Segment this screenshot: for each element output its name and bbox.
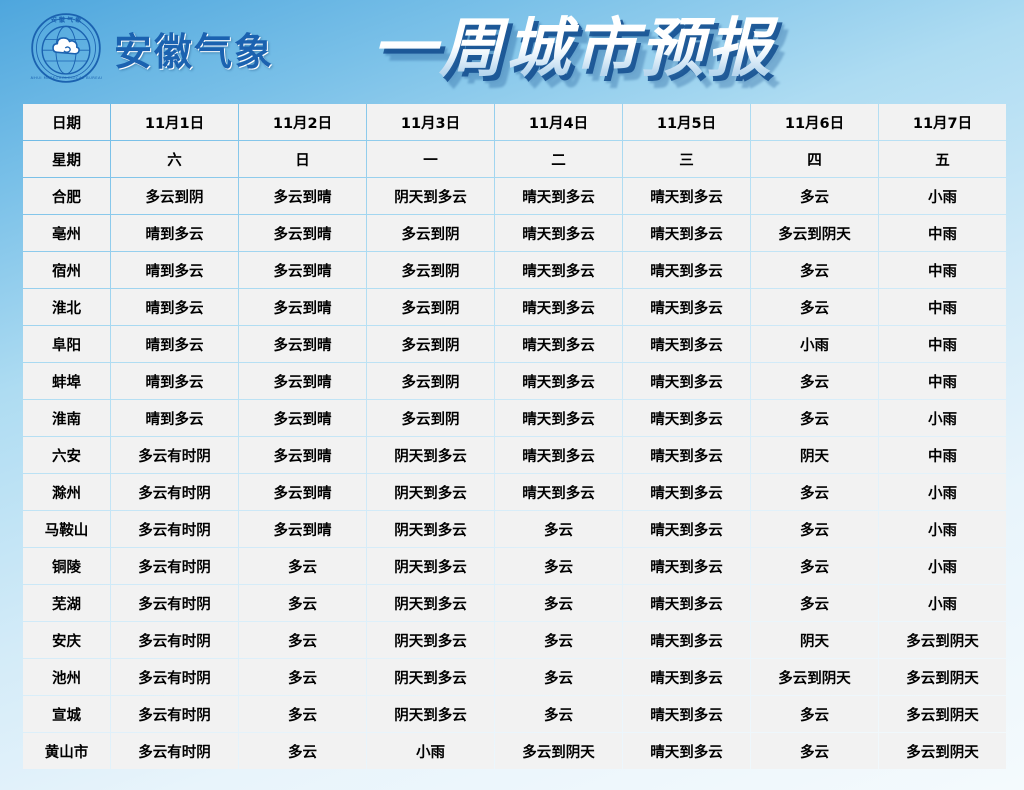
column-header-date-2: 11月2日 [239,104,366,140]
forecast-cell: 多云有时阴 [111,659,238,695]
city-name-cell: 池州 [23,659,110,695]
forecast-cell: 多云 [239,548,366,584]
city-name-cell: 阜阳 [23,326,110,362]
weekday-row: 星期六日一二三四五 [23,141,1006,177]
forecast-cell: 阴天到多云 [367,696,494,732]
weekday-cell-5: 三 [623,141,750,177]
forecast-cell: 小雨 [879,585,1006,621]
forecast-cell: 多云有时阴 [111,696,238,732]
forecast-cell: 多云到阴 [367,363,494,399]
forecast-cell: 多云到阴 [367,215,494,251]
forecast-cell: 晴天到多云 [623,474,750,510]
city-name-cell: 蚌埠 [23,363,110,399]
forecast-cell: 晴到多云 [111,400,238,436]
forecast-cell: 多云到晴 [239,363,366,399]
forecast-cell: 晴天到多云 [623,622,750,658]
forecast-cell: 多云 [239,659,366,695]
forecast-cell: 晴天到多云 [495,178,622,214]
forecast-cell: 晴天到多云 [495,326,622,362]
forecast-cell: 阴天到多云 [367,548,494,584]
forecast-cell: 晴天到多云 [495,437,622,473]
forecast-cell: 晴天到多云 [495,289,622,325]
forecast-cell: 多云到阴天 [751,215,878,251]
forecast-cell: 晴天到多云 [623,363,750,399]
city-name-cell: 黄山市 [23,733,110,769]
forecast-cell: 多云到晴 [239,326,366,362]
table-row: 亳州晴到多云多云到晴多云到阴晴天到多云晴天到多云多云到阴天中雨 [23,215,1006,251]
forecast-cell: 晴天到多云 [623,215,750,251]
forecast-cell: 多云到晴 [239,252,366,288]
forecast-cell: 多云 [239,622,366,658]
weekday-row-label: 星期 [23,141,110,177]
forecast-cell: 多云 [239,733,366,769]
table-row: 池州多云有时阴多云阴天到多云多云晴天到多云多云到阴天多云到阴天 [23,659,1006,695]
forecast-cell: 阴天 [751,437,878,473]
page-banner: 安 徽 气 象 ANHUI METEOROLOGICAL BUREAU 安徽气象… [0,0,1024,98]
date-header-row: 日期11月1日11月2日11月3日11月4日11月5日11月6日11月7日 [23,104,1006,140]
forecast-cell: 晴天到多云 [623,733,750,769]
forecast-cell: 晴天到多云 [623,400,750,436]
forecast-cell: 阴天到多云 [367,178,494,214]
column-header-date-6: 11月6日 [751,104,878,140]
forecast-cell: 多云 [751,289,878,325]
forecast-cell: 多云到晴 [239,289,366,325]
weekday-cell-6: 四 [751,141,878,177]
forecast-cell: 晴天到多云 [623,659,750,695]
city-name-cell: 六安 [23,437,110,473]
forecast-cell: 多云 [495,548,622,584]
svg-text:ANHUI METEOROLOGICAL BUREAU: ANHUI METEOROLOGICAL BUREAU [30,76,102,80]
city-name-cell: 宿州 [23,252,110,288]
forecast-cell: 晴到多云 [111,289,238,325]
city-name-cell: 宣城 [23,696,110,732]
table-row: 安庆多云有时阴多云阴天到多云多云晴天到多云阴天多云到阴天 [23,622,1006,658]
table-row: 马鞍山多云有时阴多云到晴阴天到多云多云晴天到多云多云小雨 [23,511,1006,547]
forecast-cell: 阴天到多云 [367,585,494,621]
city-name-cell: 铜陵 [23,548,110,584]
city-name-cell: 安庆 [23,622,110,658]
forecast-cell: 小雨 [879,474,1006,510]
city-name-cell: 马鞍山 [23,511,110,547]
city-name-cell: 滁州 [23,474,110,510]
forecast-cell: 多云有时阴 [111,474,238,510]
forecast-cell: 多云 [239,696,366,732]
forecast-cell: 多云 [495,511,622,547]
page-title: 一周城市预报 [372,6,852,92]
table-row: 合肥多云到阴多云到晴阴天到多云晴天到多云晴天到多云多云小雨 [23,178,1006,214]
forecast-cell: 晴到多云 [111,363,238,399]
forecast-cell: 阴天到多云 [367,437,494,473]
forecast-cell: 中雨 [879,289,1006,325]
forecast-cell: 晴天到多云 [495,474,622,510]
forecast-cell: 多云到阴天 [879,622,1006,658]
forecast-cell: 晴天到多云 [623,178,750,214]
forecast-cell: 多云 [495,585,622,621]
header-corner-date-label: 日期 [23,104,110,140]
table-row: 宿州晴到多云多云到晴多云到阴晴天到多云晴天到多云多云中雨 [23,252,1006,288]
city-name-cell: 亳州 [23,215,110,251]
page-title-wrap: 一周城市预报 [372,6,852,92]
column-header-date-7: 11月7日 [879,104,1006,140]
forecast-cell: 中雨 [879,252,1006,288]
weekday-cell-4: 二 [495,141,622,177]
brand-name: 安徽气象 [114,21,274,76]
forecast-cell: 小雨 [879,400,1006,436]
weekday-cell-1: 六 [111,141,238,177]
forecast-cell: 多云到晴 [239,437,366,473]
forecast-cell: 多云 [751,696,878,732]
table-row: 淮北晴到多云多云到晴多云到阴晴天到多云晴天到多云多云中雨 [23,289,1006,325]
table-row: 铜陵多云有时阴多云阴天到多云多云晴天到多云多云小雨 [23,548,1006,584]
forecast-cell: 晴天到多云 [495,400,622,436]
city-name-cell: 淮南 [23,400,110,436]
forecast-table-wrap: 日期11月1日11月2日11月3日11月4日11月5日11月6日11月7日 星期… [22,103,1003,770]
forecast-cell: 小雨 [879,178,1006,214]
forecast-cell: 晴天到多云 [623,437,750,473]
anhui-meteorological-bureau-logo-icon: 安 徽 气 象 ANHUI METEOROLOGICAL BUREAU [30,12,102,84]
forecast-cell: 多云有时阴 [111,511,238,547]
forecast-cell: 多云到晴 [239,215,366,251]
forecast-cell: 阴天到多云 [367,511,494,547]
forecast-cell: 中雨 [879,215,1006,251]
table-row: 蚌埠晴到多云多云到晴多云到阴晴天到多云晴天到多云多云中雨 [23,363,1006,399]
forecast-cell: 多云到阴 [367,289,494,325]
weekday-cell-7: 五 [879,141,1006,177]
forecast-cell: 多云到阴 [367,252,494,288]
forecast-cell: 阴天到多云 [367,474,494,510]
forecast-cell: 多云到阴 [367,400,494,436]
table-row: 黄山市多云有时阴多云小雨多云到阴天晴天到多云多云多云到阴天 [23,733,1006,769]
forecast-cell: 多云到晴 [239,474,366,510]
forecast-cell: 多云 [751,363,878,399]
forecast-cell: 多云 [751,400,878,436]
forecast-cell: 小雨 [879,511,1006,547]
forecast-cell: 多云 [495,696,622,732]
brand-block: 安 徽 气 象 ANHUI METEOROLOGICAL BUREAU 安徽气象 [30,12,274,84]
table-row: 芜湖多云有时阴多云阴天到多云多云晴天到多云多云小雨 [23,585,1006,621]
table-row: 淮南晴到多云多云到晴多云到阴晴天到多云晴天到多云多云小雨 [23,400,1006,436]
forecast-cell: 晴天到多云 [623,548,750,584]
forecast-cell: 晴到多云 [111,326,238,362]
forecast-cell: 晴天到多云 [495,363,622,399]
forecast-cell: 小雨 [367,733,494,769]
forecast-cell: 多云到阴天 [879,733,1006,769]
forecast-cell: 多云有时阴 [111,622,238,658]
svg-text:安 徽 气 象: 安 徽 气 象 [51,16,83,24]
table-row: 滁州多云有时阴多云到晴阴天到多云晴天到多云晴天到多云多云小雨 [23,474,1006,510]
city-name-cell: 芜湖 [23,585,110,621]
forecast-cell: 阴天到多云 [367,659,494,695]
forecast-cell: 中雨 [879,437,1006,473]
table-head: 日期11月1日11月2日11月3日11月4日11月5日11月6日11月7日 [23,104,1006,140]
forecast-cell: 晴到多云 [111,215,238,251]
forecast-cell: 多云到阴 [367,326,494,362]
forecast-cell: 晴天到多云 [623,326,750,362]
forecast-cell: 阴天到多云 [367,622,494,658]
weekday-cell-2: 日 [239,141,366,177]
column-header-date-5: 11月5日 [623,104,750,140]
city-name-cell: 合肥 [23,178,110,214]
column-header-date-3: 11月3日 [367,104,494,140]
forecast-cell: 多云有时阴 [111,548,238,584]
forecast-cell: 多云 [495,622,622,658]
city-name-cell: 淮北 [23,289,110,325]
table-row: 宣城多云有时阴多云阴天到多云多云晴天到多云多云多云到阴天 [23,696,1006,732]
forecast-cell: 多云有时阴 [111,585,238,621]
forecast-cell: 多云到晴 [239,511,366,547]
forecast-cell: 晴天到多云 [623,252,750,288]
forecast-cell: 多云 [751,511,878,547]
forecast-cell: 晴天到多云 [623,289,750,325]
forecast-cell: 多云 [751,252,878,288]
forecast-cell: 多云 [495,659,622,695]
table-body: 星期六日一二三四五合肥多云到阴多云到晴阴天到多云晴天到多云晴天到多云多云小雨亳州… [23,141,1006,769]
forecast-cell: 多云 [751,474,878,510]
forecast-cell: 多云到阴天 [879,696,1006,732]
table-row: 阜阳晴到多云多云到晴多云到阴晴天到多云晴天到多云小雨中雨 [23,326,1006,362]
forecast-cell: 多云到晴 [239,400,366,436]
forecast-cell: 晴天到多云 [495,252,622,288]
forecast-cell: 多云到阴天 [879,659,1006,695]
forecast-cell: 中雨 [879,326,1006,362]
column-header-date-4: 11月4日 [495,104,622,140]
forecast-cell: 小雨 [879,548,1006,584]
forecast-cell: 多云到阴天 [751,659,878,695]
weekday-cell-3: 一 [367,141,494,177]
column-header-date-1: 11月1日 [111,104,238,140]
forecast-cell: 多云到晴 [239,178,366,214]
forecast-cell: 多云 [751,585,878,621]
forecast-cell: 多云到阴 [111,178,238,214]
forecast-cell: 晴天到多云 [623,585,750,621]
table-row: 六安多云有时阴多云到晴阴天到多云晴天到多云晴天到多云阴天中雨 [23,437,1006,473]
forecast-cell: 多云 [751,733,878,769]
forecast-table: 日期11月1日11月2日11月3日11月4日11月5日11月6日11月7日 星期… [22,103,1007,770]
forecast-cell: 晴到多云 [111,252,238,288]
forecast-cell: 多云有时阴 [111,733,238,769]
forecast-cell: 小雨 [751,326,878,362]
forecast-cell: 多云 [751,548,878,584]
forecast-cell: 多云到阴天 [495,733,622,769]
forecast-cell: 阴天 [751,622,878,658]
forecast-cell: 多云有时阴 [111,437,238,473]
forecast-cell: 多云 [239,585,366,621]
forecast-cell: 晴天到多云 [495,215,622,251]
forecast-cell: 晴天到多云 [623,511,750,547]
forecast-cell: 晴天到多云 [623,696,750,732]
forecast-cell: 中雨 [879,363,1006,399]
forecast-cell: 多云 [751,178,878,214]
